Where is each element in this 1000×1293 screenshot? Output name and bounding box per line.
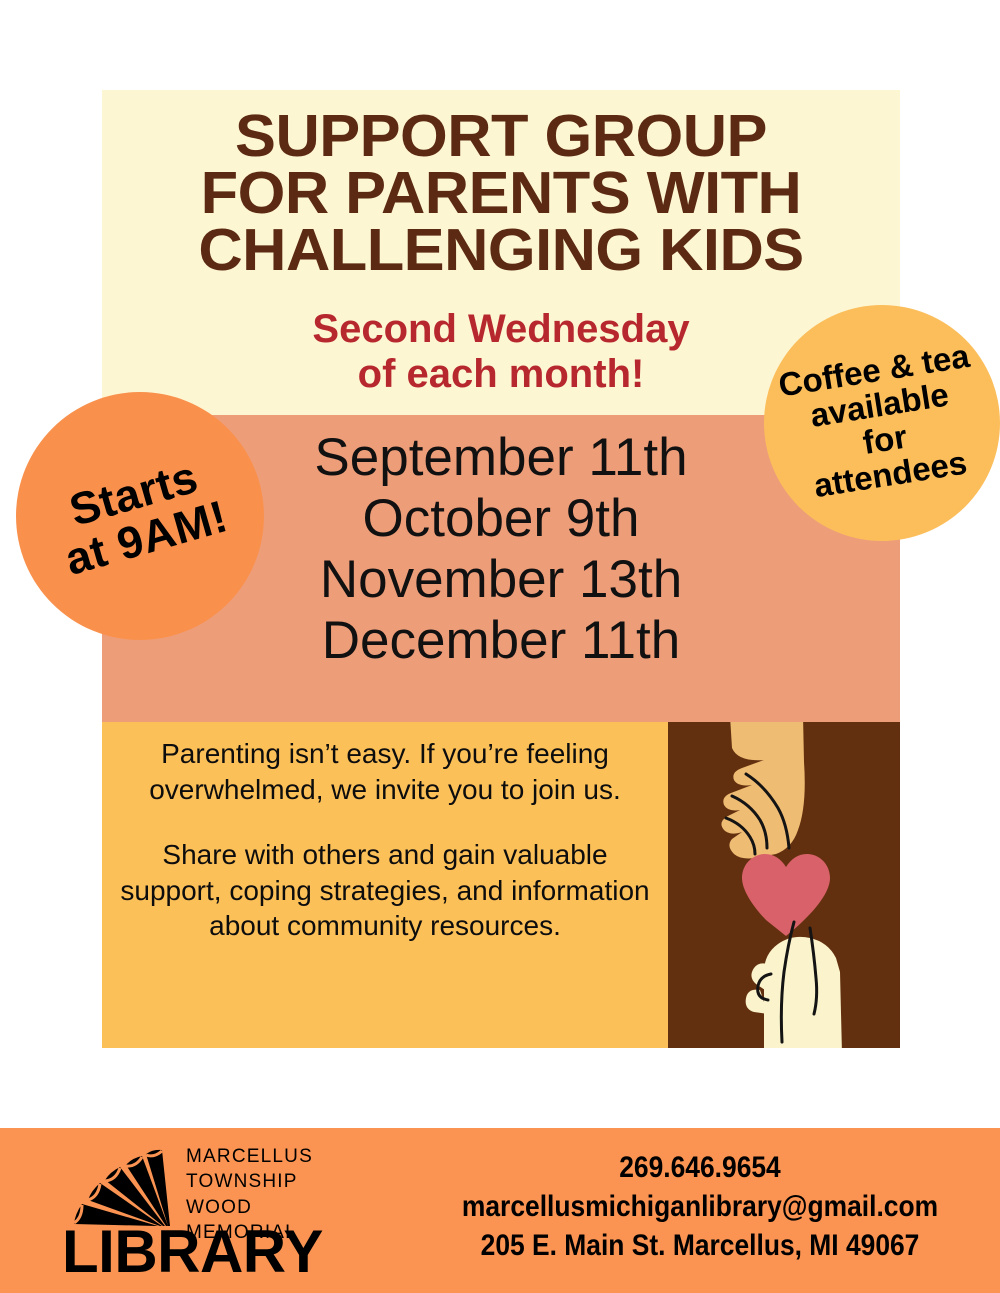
library-wordmark: LIBRARY bbox=[62, 1222, 323, 1282]
contact-email[interactable]: marcellusmichiganlibrary@gmail.com bbox=[454, 1187, 947, 1226]
poster-body-copy: Parenting isn’t easy. If you’re feeling … bbox=[118, 736, 652, 944]
library-contact-info: 269.646.9654 marcellusmichiganlibrary@gm… bbox=[454, 1148, 947, 1265]
headline-line-2: FOR PARENTS WITH bbox=[86, 165, 916, 222]
poster-headline: SUPPORT GROUP FOR PARENTS WITH CHALLENGI… bbox=[86, 108, 916, 280]
body-paragraph-2: Share with others and gain valuable supp… bbox=[118, 837, 652, 944]
two-hands-passing-heart-illustration bbox=[668, 722, 900, 1048]
contact-phone[interactable]: 269.646.9654 bbox=[454, 1148, 947, 1187]
meeting-date-december: December 11th bbox=[102, 611, 900, 672]
library-name-line-2: TOWNSHIP bbox=[186, 1169, 313, 1194]
subheadline-line-1: Second Wednesday bbox=[102, 307, 900, 352]
library-name-line-3: WOOD bbox=[186, 1195, 313, 1220]
poster-canvas: SUPPORT GROUP FOR PARENTS WITH CHALLENGI… bbox=[0, 0, 1000, 1293]
headline-line-3: CHALLENGING KIDS bbox=[86, 222, 916, 279]
headline-line-1: SUPPORT GROUP bbox=[86, 108, 916, 165]
illustration-panel bbox=[668, 722, 900, 1048]
body-paragraph-1: Parenting isn’t easy. If you’re feeling … bbox=[118, 736, 652, 807]
contact-address: 205 E. Main St. Marcellus, MI 49067 bbox=[454, 1226, 947, 1265]
starts-badge-text: Starts at 9AM! bbox=[48, 449, 233, 583]
library-logo: MARCELLUS TOWNSHIP WOOD MEMORIAL LIBRARY bbox=[58, 1136, 358, 1286]
coffee-and-tea-badge: Coffee & tea available for attendees bbox=[764, 305, 1000, 541]
library-fan-pages-icon bbox=[58, 1142, 178, 1226]
coffee-badge-text: Coffee & tea available for attendees bbox=[776, 339, 988, 507]
poster-footer: MARCELLUS TOWNSHIP WOOD MEMORIAL LIBRARY… bbox=[0, 1128, 1000, 1293]
library-name-line-1: MARCELLUS bbox=[186, 1144, 313, 1169]
starts-at-9am-badge: Starts at 9AM! bbox=[16, 392, 264, 640]
